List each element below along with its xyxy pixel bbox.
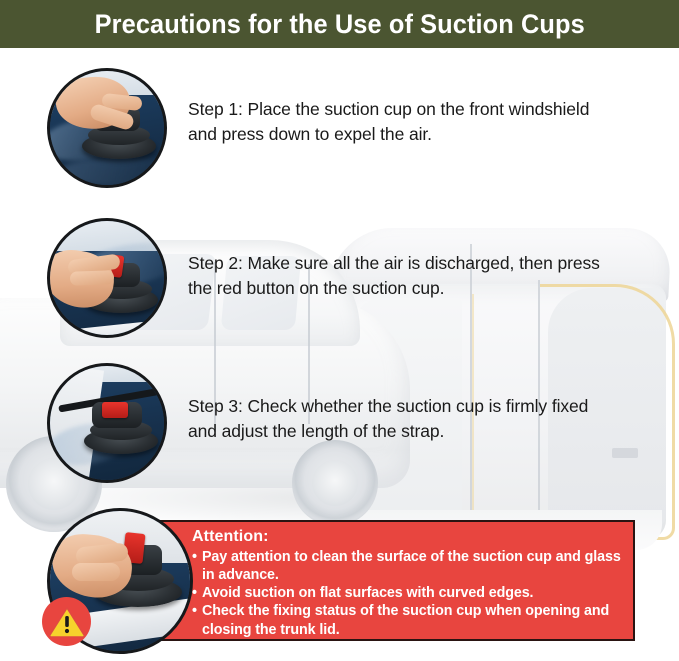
attention-content: Attention: • Pay attention to clean the … — [192, 528, 622, 639]
step-3-thumbnail — [47, 363, 167, 483]
page-title: Precautions for the Use of Suction Cups — [94, 11, 584, 38]
attention-panel: Attention: • Pay attention to clean the … — [130, 520, 635, 641]
step-2-text: Step 2: Make sure all the air is dischar… — [188, 251, 618, 302]
photo-finger-2 — [72, 563, 120, 581]
background-car-wheel-rear — [292, 440, 378, 526]
attention-item-text: Avoid suction on flat surfaces with curv… — [202, 584, 533, 602]
step-2-thumbnail — [47, 218, 167, 338]
bullet-icon: • — [192, 584, 201, 602]
warning-triangle-icon — [42, 597, 91, 646]
step-1-text: Step 1: Place the suction cup on the fro… — [188, 97, 618, 148]
infographic-page: Precautions for the Use of Suction Cups … — [0, 0, 679, 661]
background-car-wheel-hub-rear — [312, 460, 358, 506]
attention-item-text: Pay attention to clean the surface of th… — [202, 548, 622, 584]
bullet-icon: • — [192, 602, 201, 638]
background-tent-logo — [612, 448, 638, 458]
attention-list-item: • Avoid suction on flat surfaces with cu… — [192, 584, 622, 602]
attention-list-item: • Pay attention to clean the surface of … — [192, 548, 622, 584]
attention-item-text: Check the fixing status of the suction c… — [202, 602, 622, 638]
header-banner: Precautions for the Use of Suction Cups — [0, 0, 679, 48]
photo-finger-2 — [70, 270, 114, 286]
bullet-icon: • — [192, 548, 201, 584]
photo-red-release-button — [102, 402, 128, 418]
attention-title: Attention: — [192, 528, 622, 546]
step-1-thumbnail — [47, 68, 167, 188]
attention-list-item: • Check the fixing status of the suction… — [192, 602, 622, 638]
step-3-text: Step 3: Check whether the suction cup is… — [188, 394, 618, 445]
